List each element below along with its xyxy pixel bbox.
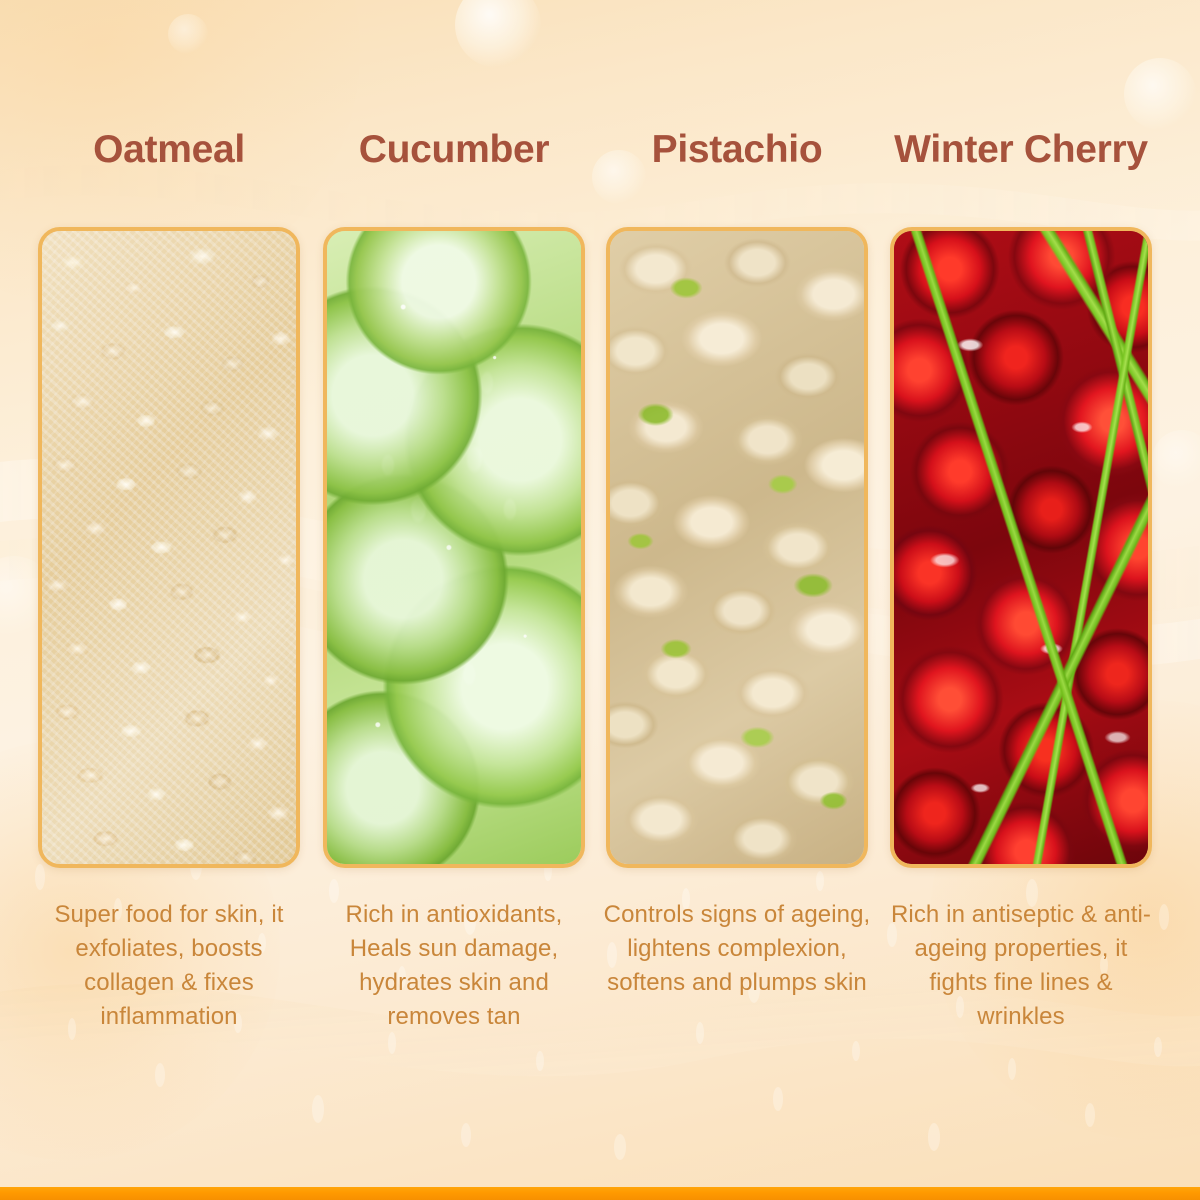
ingredient-caption-oatmeal: Super food for skin, it exfoliates, boos… — [32, 898, 306, 1034]
oatmeal-photo — [42, 231, 296, 864]
ingredient-caption-cucumber: Rich in antioxidants, Heals sun damage, … — [317, 898, 591, 1034]
ingredient-image-oatmeal — [38, 227, 300, 868]
pistachio-photo — [610, 231, 864, 864]
ingredient-title-winter-cherry: Winter Cherry — [876, 128, 1166, 172]
ingredient-benefits-poster: Oatmeal Super food for skin, it exfoliat… — [0, 0, 1200, 1200]
ingredient-columns: Oatmeal Super food for skin, it exfoliat… — [0, 0, 1200, 1200]
ingredient-caption-pistachio: Controls signs of ageing, lightens compl… — [600, 898, 874, 1000]
ingredient-title-pistachio: Pistachio — [592, 128, 882, 172]
bottom-accent-bar — [0, 1187, 1200, 1200]
ingredient-image-pistachio — [606, 227, 868, 868]
ingredient-title-cucumber: Cucumber — [309, 128, 599, 172]
ingredient-caption-winter-cherry: Rich in antiseptic & anti-ageing propert… — [884, 898, 1158, 1034]
cucumber-photo — [327, 231, 581, 864]
winter-cherry-photo — [894, 231, 1148, 864]
ingredient-image-winter-cherry — [890, 227, 1152, 868]
ingredient-image-cucumber — [323, 227, 585, 868]
ingredient-title-oatmeal: Oatmeal — [24, 128, 314, 172]
